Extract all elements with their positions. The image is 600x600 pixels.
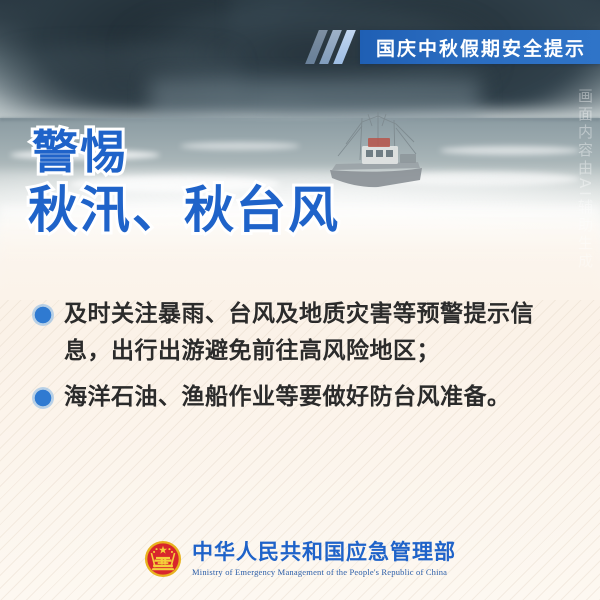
- ai-generated-watermark: 画面内容由AI辅助生成: [575, 88, 596, 271]
- diagonal-slashes-icon: [312, 30, 354, 64]
- ministry-name-en: Ministry of Emergency Management of the …: [192, 567, 456, 577]
- bullet-dot-icon: [32, 304, 54, 326]
- china-national-emblem-icon: [144, 540, 182, 578]
- footer: 中华人民共和国应急管理部 Ministry of Emergency Manag…: [0, 540, 600, 578]
- banner-bar: 国庆中秋假期安全提示: [360, 30, 600, 64]
- ministry-name-block: 中华人民共和国应急管理部 Ministry of Emergency Manag…: [192, 541, 456, 577]
- bullet-list: 及时关注暴雨、台风及地质灾害等预警提示信息，出行出游避免前往高风险地区； 海洋石…: [32, 296, 580, 424]
- headline-line-2: 秋汛、秋台风: [28, 184, 340, 237]
- list-item: 及时关注暴雨、台风及地质灾害等预警提示信息，出行出游避免前往高风险地区；: [32, 296, 580, 371]
- ministry-name-cn: 中华人民共和国应急管理部: [192, 541, 456, 565]
- horizon-line: [0, 118, 600, 121]
- poster-root: 画面内容由AI辅助生成 国庆中秋假期安全提示 警惕 秋汛、秋台风 及时关注暴雨、…: [0, 0, 600, 600]
- bullet-dot-icon: [32, 387, 54, 409]
- headline: 警惕 秋汛、秋台风: [28, 128, 340, 237]
- list-item: 海洋石油、渔船作业等要做好防台风准备。: [32, 379, 580, 416]
- banner-title: 国庆中秋假期安全提示: [376, 34, 586, 61]
- bullet-text: 及时关注暴雨、台风及地质灾害等预警提示信息，出行出游避免前往高风险地区；: [64, 296, 580, 371]
- bullet-text: 海洋石油、渔船作业等要做好防台风准备。: [64, 379, 580, 416]
- wave-crest: [440, 146, 580, 155]
- headline-line-1: 警惕: [32, 128, 340, 176]
- top-banner: 国庆中秋假期安全提示: [312, 30, 600, 64]
